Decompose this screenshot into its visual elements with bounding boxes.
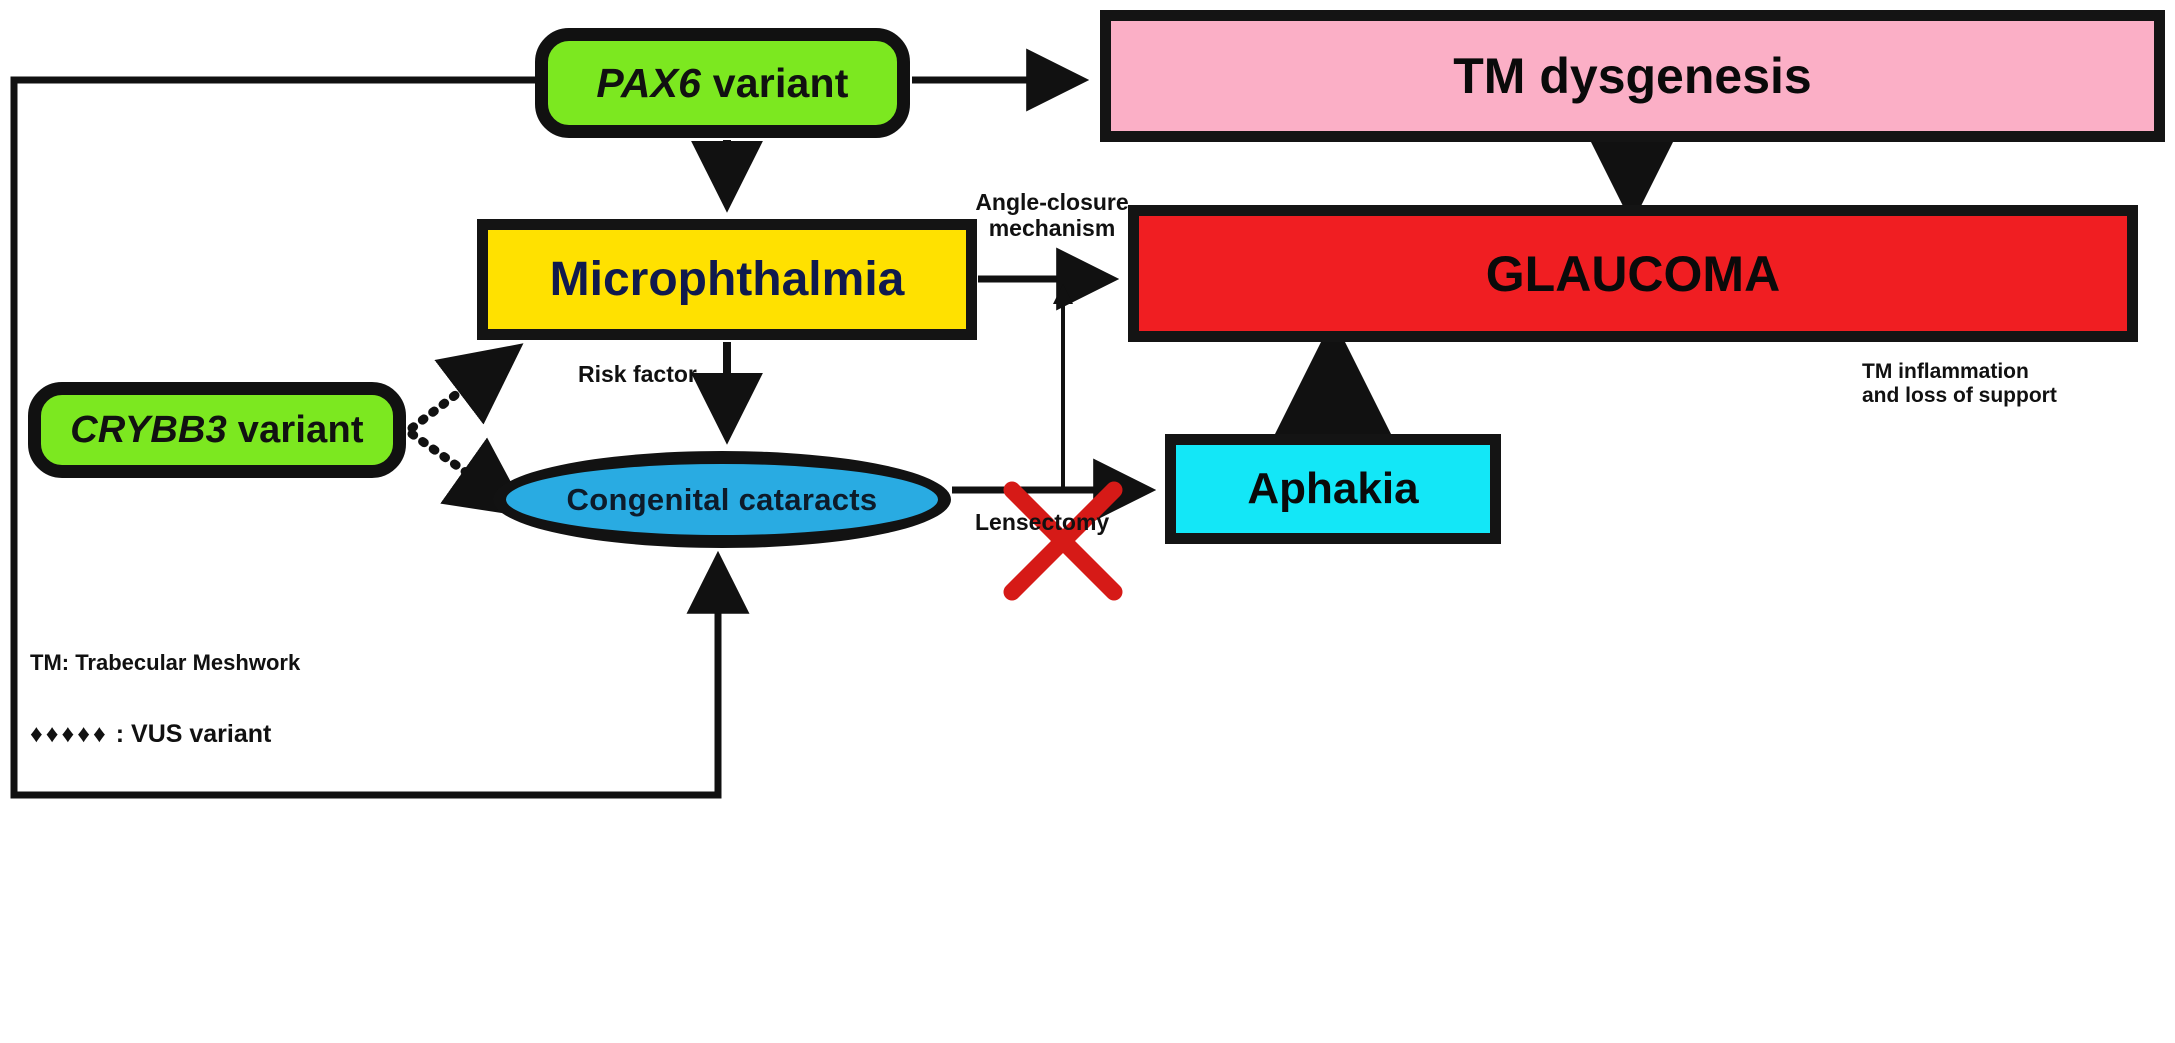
edge-label-tm-inflammation-line1: TM inflammation xyxy=(1862,360,2162,384)
node-crybb3-variant[interactable]: CRYBB3 variant xyxy=(28,382,406,478)
legend-vus-text: : VUS variant xyxy=(109,720,272,748)
node-crybb3-suffix: variant xyxy=(227,409,364,451)
edge-label-lensectomy: Lensectomy xyxy=(975,510,1109,536)
node-aphakia[interactable]: Aphakia xyxy=(1165,434,1501,544)
node-congenital-cataracts-label: Congenital cataracts xyxy=(567,482,878,518)
node-tm-dysgenesis[interactable]: TM dysgenesis xyxy=(1100,10,2165,142)
edge-label-tm-inflammation-line2: and loss of support xyxy=(1862,384,2162,408)
edge-label-risk-factor: Risk factor xyxy=(578,362,697,388)
node-tm-dysgenesis-label: TM dysgenesis xyxy=(1453,47,1811,105)
node-microphthalmia-label: Microphthalmia xyxy=(550,252,905,307)
edge-label-tm-inflammation: TM inflammation and loss of support xyxy=(1862,360,2162,407)
node-congenital-cataracts[interactable]: Congenital cataracts xyxy=(493,451,951,548)
vus-diamond-icon: ♦♦♦♦♦ xyxy=(30,720,109,748)
edge-label-angle-closure: Angle-closure mechanism xyxy=(972,190,1132,242)
edge-crybb3-to-microphthalmia-dotted xyxy=(412,352,512,428)
node-pax6-variant[interactable]: PAX6 variant xyxy=(535,28,910,138)
legend-vus-variant: ♦♦♦♦♦ : VUS variant xyxy=(30,720,271,749)
node-glaucoma[interactable]: GLAUCOMA xyxy=(1128,205,2138,342)
node-pax6-suffix: variant xyxy=(701,60,848,106)
blocked-cross-icon xyxy=(1000,478,1126,604)
node-aphakia-label: Aphakia xyxy=(1247,464,1418,514)
node-pax6-gene-name: PAX6 xyxy=(596,60,701,106)
legend-abbreviation: TM: Trabecular Meshwork xyxy=(30,650,300,676)
edge-label-angle-closure-line1: Angle-closure xyxy=(972,190,1132,216)
edge-label-angle-closure-line2: mechanism xyxy=(972,216,1132,242)
diagram-canvas: PAX6 variant CRYBB3 variant TM dysgenesi… xyxy=(0,0,2175,1043)
node-crybb3-gene-name: CRYBB3 xyxy=(70,409,227,451)
node-microphthalmia[interactable]: Microphthalmia xyxy=(477,219,977,340)
node-glaucoma-label: GLAUCOMA xyxy=(1486,245,1780,303)
